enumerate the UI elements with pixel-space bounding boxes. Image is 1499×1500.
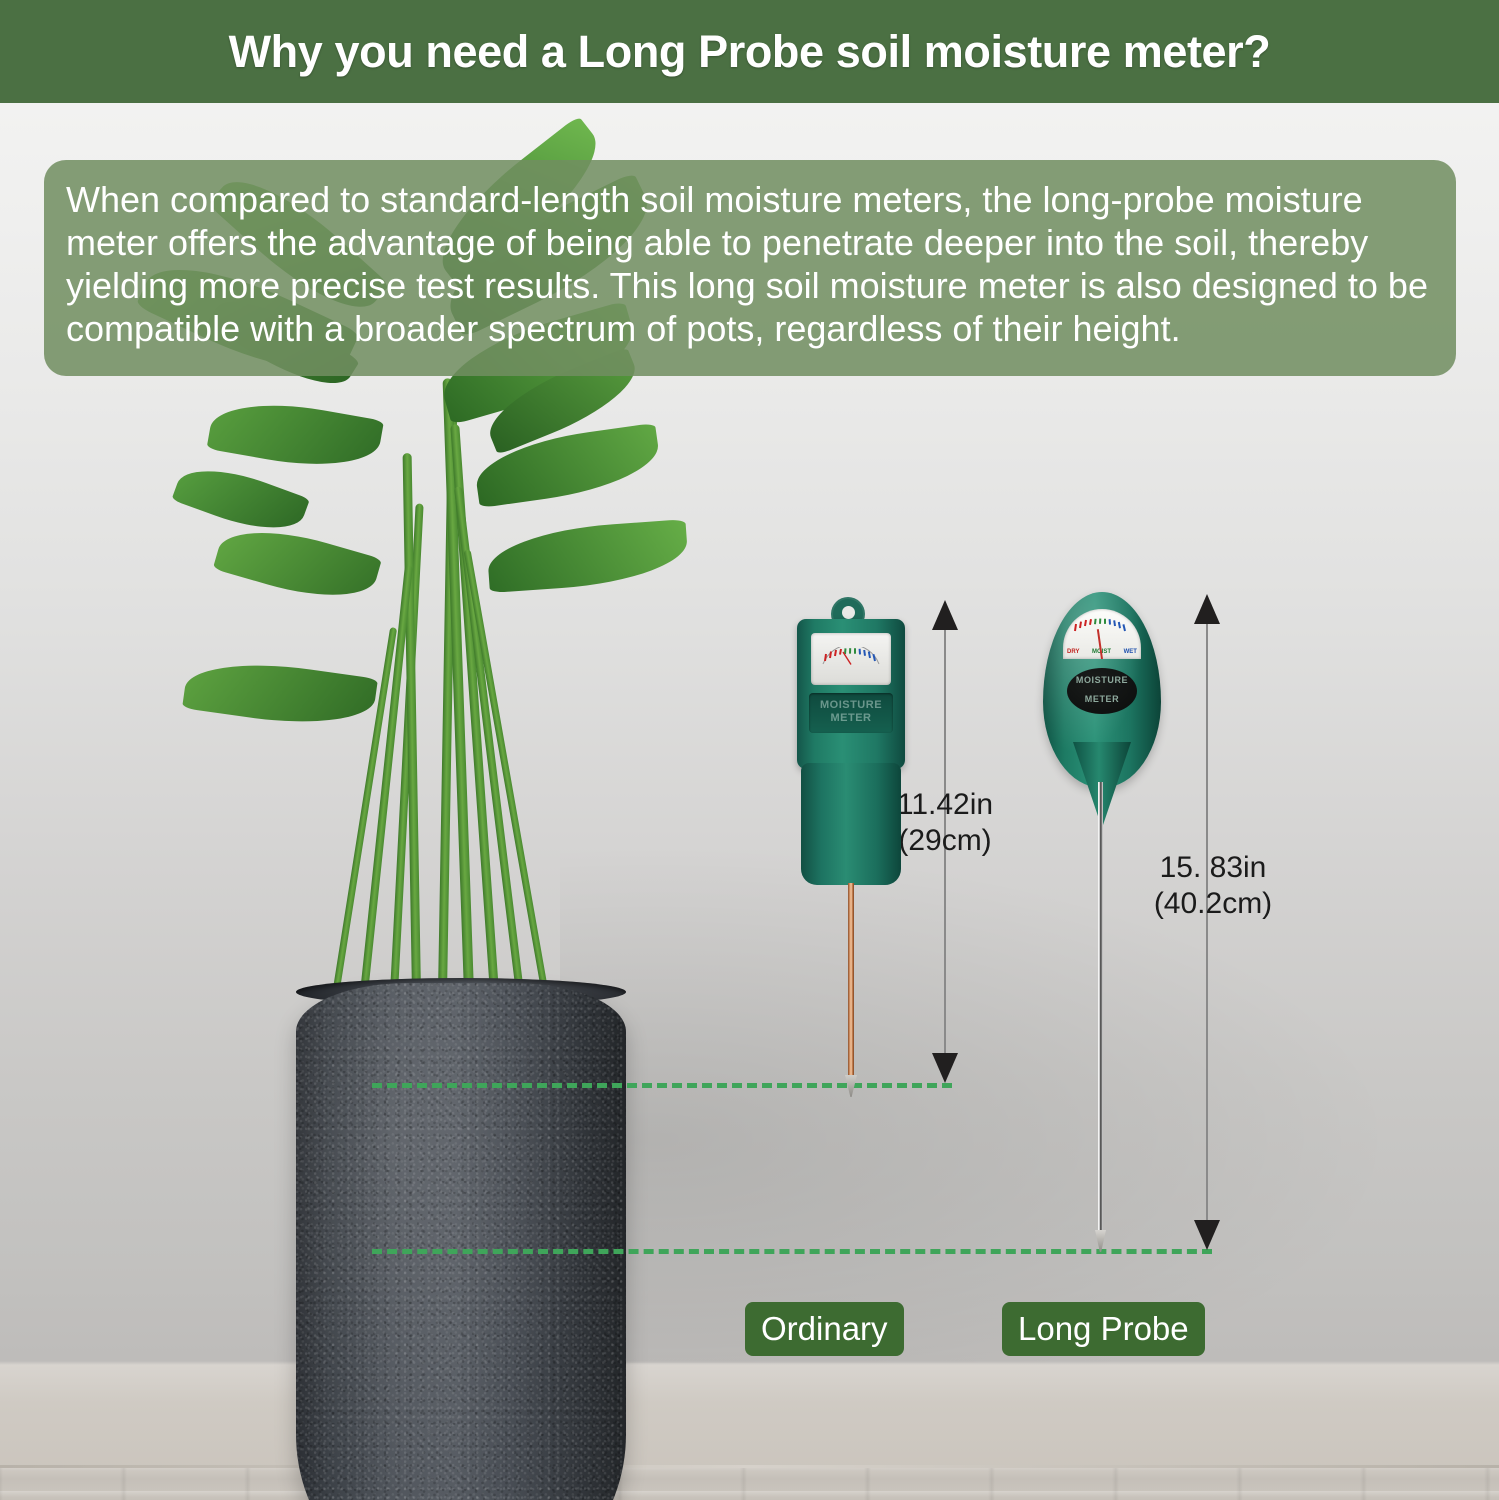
ordinary-dimension-metric: (29cm) (898, 824, 991, 857)
long-probe-dimension-arrow-bottom (1194, 1220, 1220, 1250)
long-probe-dimension-metric: (40.2cm) (1154, 887, 1272, 920)
ordinary-faceplate-line2: METER (831, 712, 872, 724)
ordinary-dimension-arrow-top (932, 600, 958, 630)
long-probe-meter-faceplate: MOISTURE METER (1067, 668, 1137, 714)
plant-leaf (182, 653, 378, 735)
ordinary-faceplate-line1: MOISTURE (820, 699, 882, 711)
ordinary-meter-probe-rod (848, 883, 854, 1079)
long-probe-moisture-meter: DRY MOIST WET MOISTURE METER (1043, 592, 1161, 1254)
ordinary-meter-body: MOISTURE METER (797, 619, 905, 769)
ordinary-meter-grip (801, 763, 901, 885)
ordinary-meter-faceplate: MOISTURE METER (809, 693, 893, 733)
long-probe-pill-label: Long Probe (1002, 1302, 1205, 1356)
long-probe-dimension-inches: 15. 83in (1160, 851, 1267, 884)
long-probe-meter-gauge: DRY MOIST WET (1063, 609, 1141, 659)
ordinary-dimension-arrow-bottom (932, 1053, 958, 1083)
long-probe-faceplate-line1: MOISTURE (1067, 675, 1137, 685)
description-card: When compared to standard-length soil mo… (44, 160, 1456, 376)
ordinary-dimension-inches: 11.42in (897, 788, 993, 821)
ordinary-moisture-meter: MOISTURE METER (797, 597, 905, 1082)
infographic-page: 11.42in(29cm) 15. 83in(40.2cm) (0, 0, 1499, 1500)
long-probe-dimension-line (1206, 606, 1208, 1240)
pot-texture (296, 983, 626, 1500)
plant-leaf (213, 515, 382, 613)
plant-pot (296, 983, 626, 1500)
ordinary-pill-label: Ordinary (745, 1302, 904, 1356)
page-title: Why you need a Long Probe soil moisture … (0, 0, 1499, 103)
floor-seam (0, 1465, 1499, 1468)
gauge-label-wet: WET (1124, 649, 1137, 655)
long-probe-meter-probe-tip (1095, 1230, 1106, 1252)
plant-leaf (207, 391, 384, 478)
long-probe-faceplate-line2: METER (1067, 694, 1137, 704)
header-band: Why you need a Long Probe soil moisture … (0, 0, 1499, 103)
long-probe-meter-probe-rod (1098, 782, 1103, 1234)
ordinary-meter-gauge (811, 633, 891, 685)
long-probe-gauge-scale-icon (1070, 618, 1134, 634)
ordinary-gauge-scale-icon (819, 647, 883, 665)
long-probe-dimension-arrow-top (1194, 594, 1220, 624)
plant-leaf (486, 519, 690, 593)
gauge-label-dry: DRY (1067, 649, 1079, 655)
long-probe-meter-body: DRY MOIST WET MOISTURE METER (1043, 592, 1161, 788)
plant-leaf (171, 455, 310, 545)
ordinary-depth-guide-line (372, 1083, 952, 1088)
wood-floor (0, 1465, 1499, 1500)
